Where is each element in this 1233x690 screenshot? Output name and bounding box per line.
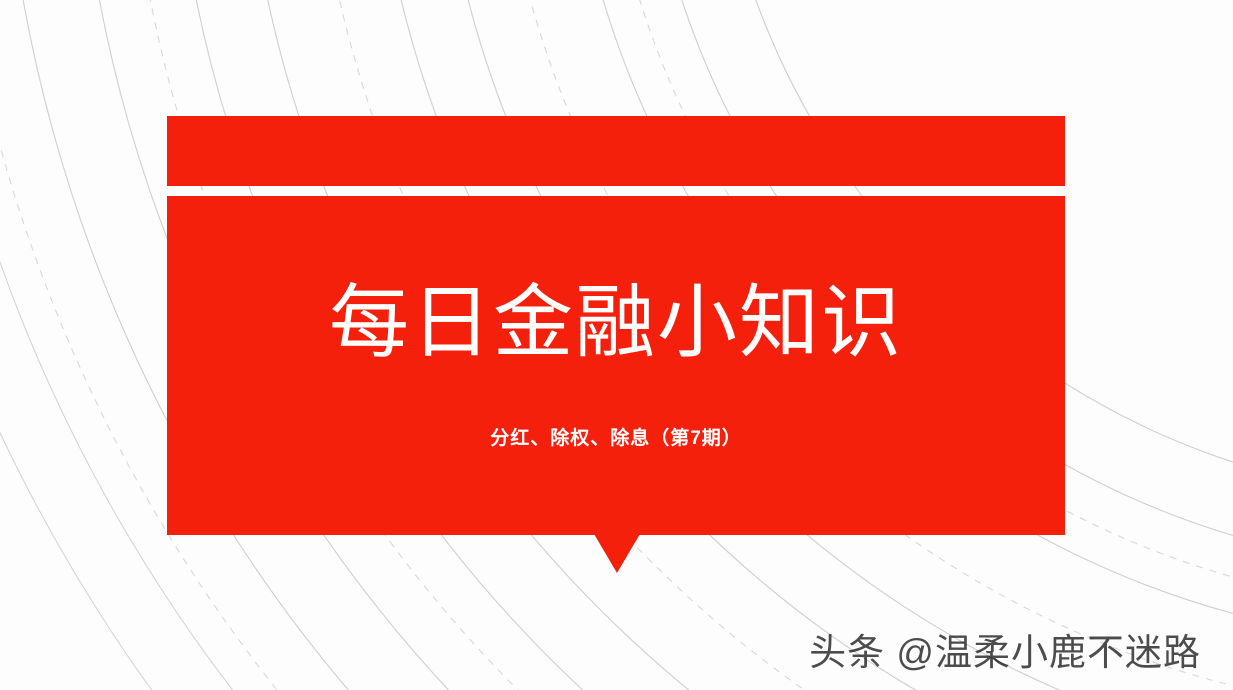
slide-title: 每日金融小知识 <box>329 281 903 371</box>
title-panel-text-group: 每日金融小知识 分红、除权、除息（第7期） <box>167 196 1065 535</box>
title-panel-top-bar <box>167 116 1065 186</box>
watermark-text: 头条 @温柔小鹿不迷路 <box>809 622 1201 676</box>
panel-pointer-triangle <box>594 534 640 573</box>
presentation-slide: 每日金融小知识 分红、除权、除息（第7期） 头条 @温柔小鹿不迷路 <box>0 0 1233 690</box>
slide-subtitle: 分红、除权、除息（第7期） <box>490 423 742 450</box>
